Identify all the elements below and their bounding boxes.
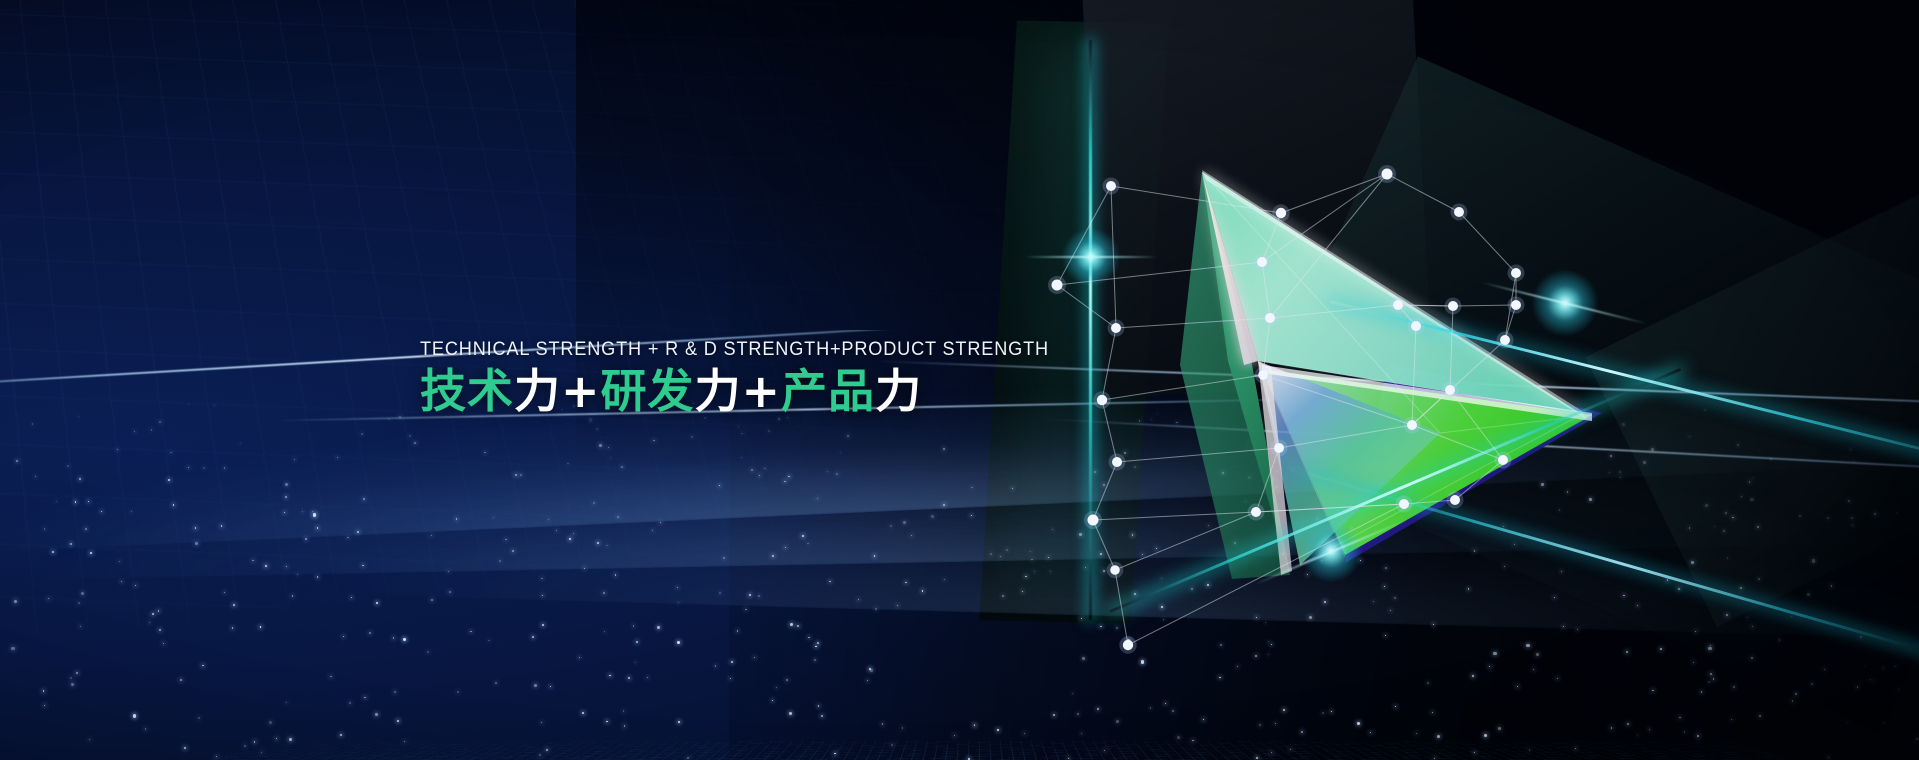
network-node [1123,640,1133,650]
network-link [1453,305,1516,306]
hero-banner: TECHNICAL STRENGTH + R & D STRENGTH+PROD… [0,0,1919,760]
network-node [1111,323,1121,333]
network-node [1411,321,1421,331]
network-link [1455,460,1503,500]
headline-segment-6: 产品 [781,364,875,418]
hero-text-block: TECHNICAL STRENGTH + R & D STRENGTH+PROD… [420,338,980,416]
network-node [1251,507,1261,517]
network-link [1256,448,1279,512]
network-node [1110,565,1120,575]
network-link [1111,186,1281,213]
network-node [1393,300,1403,310]
hero-headline: 技术力+研发力+产品力 [420,367,980,416]
network-node [1407,420,1417,430]
network-link [1279,425,1412,448]
hero-eyebrow: TECHNICAL STRENGTH + R & D STRENGTH+PROD… [420,338,941,361]
network-link [1263,375,1279,448]
network-node [1500,335,1510,345]
network-link [1057,262,1262,285]
network-node [1448,301,1458,311]
network-node [1382,169,1393,180]
network-link [1128,504,1404,645]
network-link [1450,306,1453,390]
network-node [1088,515,1099,526]
headline-segment-7: 力 [875,364,922,418]
network-link [1387,174,1459,212]
network-link [1111,186,1116,328]
headline-segment-1: 力 [514,364,561,418]
network-node [1399,499,1409,509]
network-link [1270,305,1398,318]
network-node [1498,455,1508,465]
network-link [1093,462,1117,520]
network-node [1450,495,1460,505]
network-link [1102,400,1117,462]
network-node [1257,257,1267,267]
network-node [1274,443,1284,453]
headline-segment-2: + [561,364,601,418]
network-link [1116,318,1270,328]
network-link [1412,326,1416,425]
network-node [1112,457,1122,467]
network-link [1093,512,1256,520]
network-node [1511,268,1521,278]
network-link [1102,375,1263,400]
network-link [1057,186,1111,285]
network-link [1263,375,1412,425]
network-link [1115,512,1256,570]
network-link [1263,318,1270,375]
network-node [1097,395,1107,405]
network-node [1511,300,1521,310]
network-link [1117,448,1279,462]
headline-segment-3: 研发 [601,364,695,418]
network-node [1052,280,1063,291]
network-node [1445,385,1455,395]
network-link [1057,285,1116,328]
network-node [1265,313,1275,323]
network-nodes [1048,165,1525,654]
network-link [1459,212,1516,273]
network-links [1057,174,1516,645]
network-node [1454,207,1464,217]
network-link [1102,328,1116,400]
headline-segment-0: 技术 [420,364,514,418]
headline-segment-5: + [742,364,782,418]
network-node [1106,181,1116,191]
network-node [1258,370,1268,380]
network-node [1276,208,1286,218]
headline-segment-4: 力 [695,364,742,418]
network-link [1256,504,1404,512]
network-link [1115,570,1128,645]
